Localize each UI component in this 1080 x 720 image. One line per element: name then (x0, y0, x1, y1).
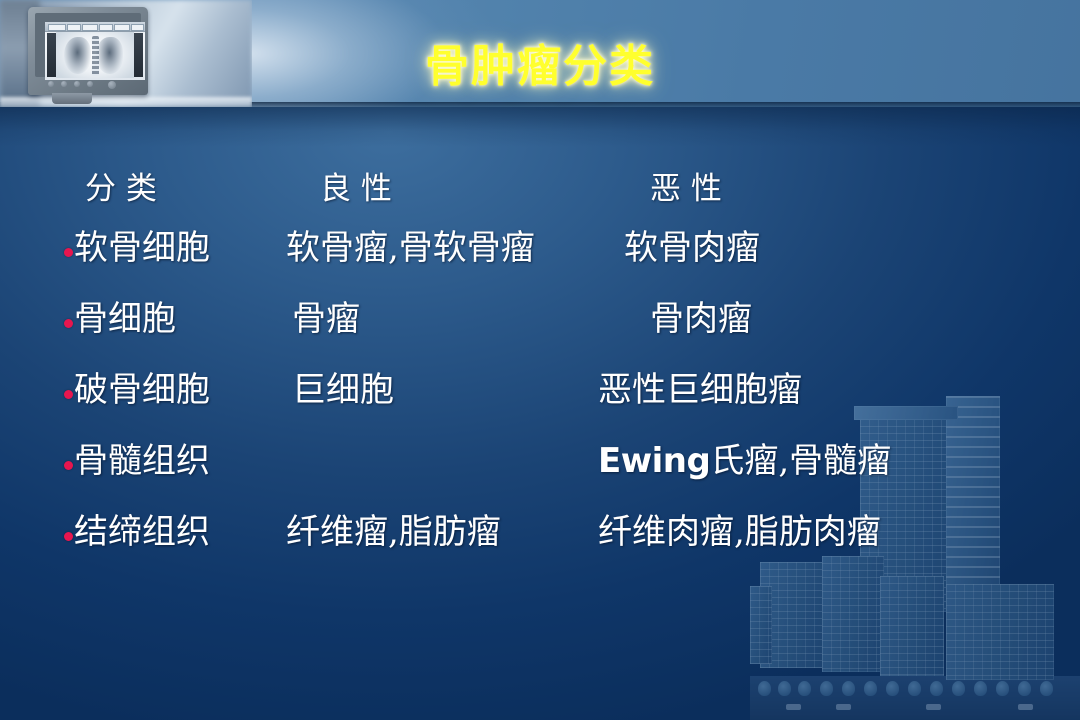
cell-benign: 软骨瘤,骨软骨瘤 (286, 224, 535, 272)
bullet-icon (64, 461, 73, 470)
screen-toolbar (45, 22, 145, 32)
cell-benign: 纤维瘤,脂肪瘤 (286, 508, 501, 556)
cell-benign: 骨瘤 (292, 295, 360, 343)
table-header-row: 分 类 良 性 恶 性 (0, 160, 1080, 218)
table-row: 破骨细胞 巨细胞 恶性巨细胞瘤 (0, 360, 1080, 431)
toolbar-item (131, 24, 144, 31)
table-row: 骨髓组织 Ewing氏瘤,骨髓瘤 (0, 431, 1080, 502)
cell-malignant-latin: Ewing (598, 441, 710, 481)
monitor-stand (52, 93, 92, 104)
cell-malignant: 恶性巨细胞瘤 (598, 366, 802, 414)
bone-tumor-classification-table: 分 类 良 性 恶 性 软骨细胞 软骨瘤,骨软骨瘤 软骨肉瘤 骨细胞 骨瘤 骨肉… (0, 160, 1080, 573)
presentation-slide: 骨肿瘤分类 分 类 良 性 恶 性 软骨细胞 软骨瘤,骨软骨瘤 软骨肉瘤 骨细胞… (0, 0, 1080, 720)
toolbar-item (67, 24, 81, 31)
bullet-icon (64, 532, 73, 541)
toolbar-item (99, 24, 113, 31)
toolbar-item (82, 24, 98, 31)
desk-surface (0, 97, 252, 107)
cell-category: 破骨细胞 (74, 366, 210, 414)
bullet-icon (64, 390, 73, 399)
cell-category: 骨髓组织 (74, 437, 210, 485)
cell-malignant-text: 骨肉瘤 (650, 299, 752, 339)
cell-malignant: Ewing氏瘤,骨髓瘤 (598, 437, 891, 485)
toolbar-item (48, 24, 66, 31)
toolbar-item (114, 24, 130, 31)
cell-malignant: 骨肉瘤 (650, 295, 752, 343)
cell-malignant-text: 软骨肉瘤 (624, 228, 760, 268)
cell-malignant-text: 纤维肉瘤,脂肪肉瘤 (598, 512, 881, 552)
cell-category: 软骨细胞 (74, 224, 210, 272)
bullet-icon (64, 248, 73, 257)
bullet-icon (64, 319, 73, 328)
cell-malignant: 纤维肉瘤,脂肪肉瘤 (598, 508, 881, 556)
slide-title: 骨肿瘤分类 (0, 42, 1080, 92)
cell-category: 结缔组织 (74, 508, 210, 556)
background-sheen (0, 107, 1080, 147)
cell-malignant-text: 氏瘤,骨髓瘤 (710, 441, 891, 481)
column-header-malignant: 恶 性 (650, 160, 722, 218)
column-header-category: 分 类 (85, 160, 157, 218)
table-row: 软骨细胞 软骨瘤,骨软骨瘤 软骨肉瘤 (0, 218, 1080, 289)
cell-category: 骨细胞 (74, 295, 176, 343)
table-row: 结缔组织 纤维瘤,脂肪瘤 纤维肉瘤,脂肪肉瘤 (0, 502, 1080, 573)
column-header-benign: 良 性 (320, 160, 392, 218)
cell-malignant: 软骨肉瘤 (624, 224, 760, 272)
cell-malignant-text: 恶性巨细胞瘤 (598, 370, 802, 410)
table-row: 骨细胞 骨瘤 骨肉瘤 (0, 289, 1080, 360)
cell-benign: 巨细胞 (292, 366, 394, 414)
